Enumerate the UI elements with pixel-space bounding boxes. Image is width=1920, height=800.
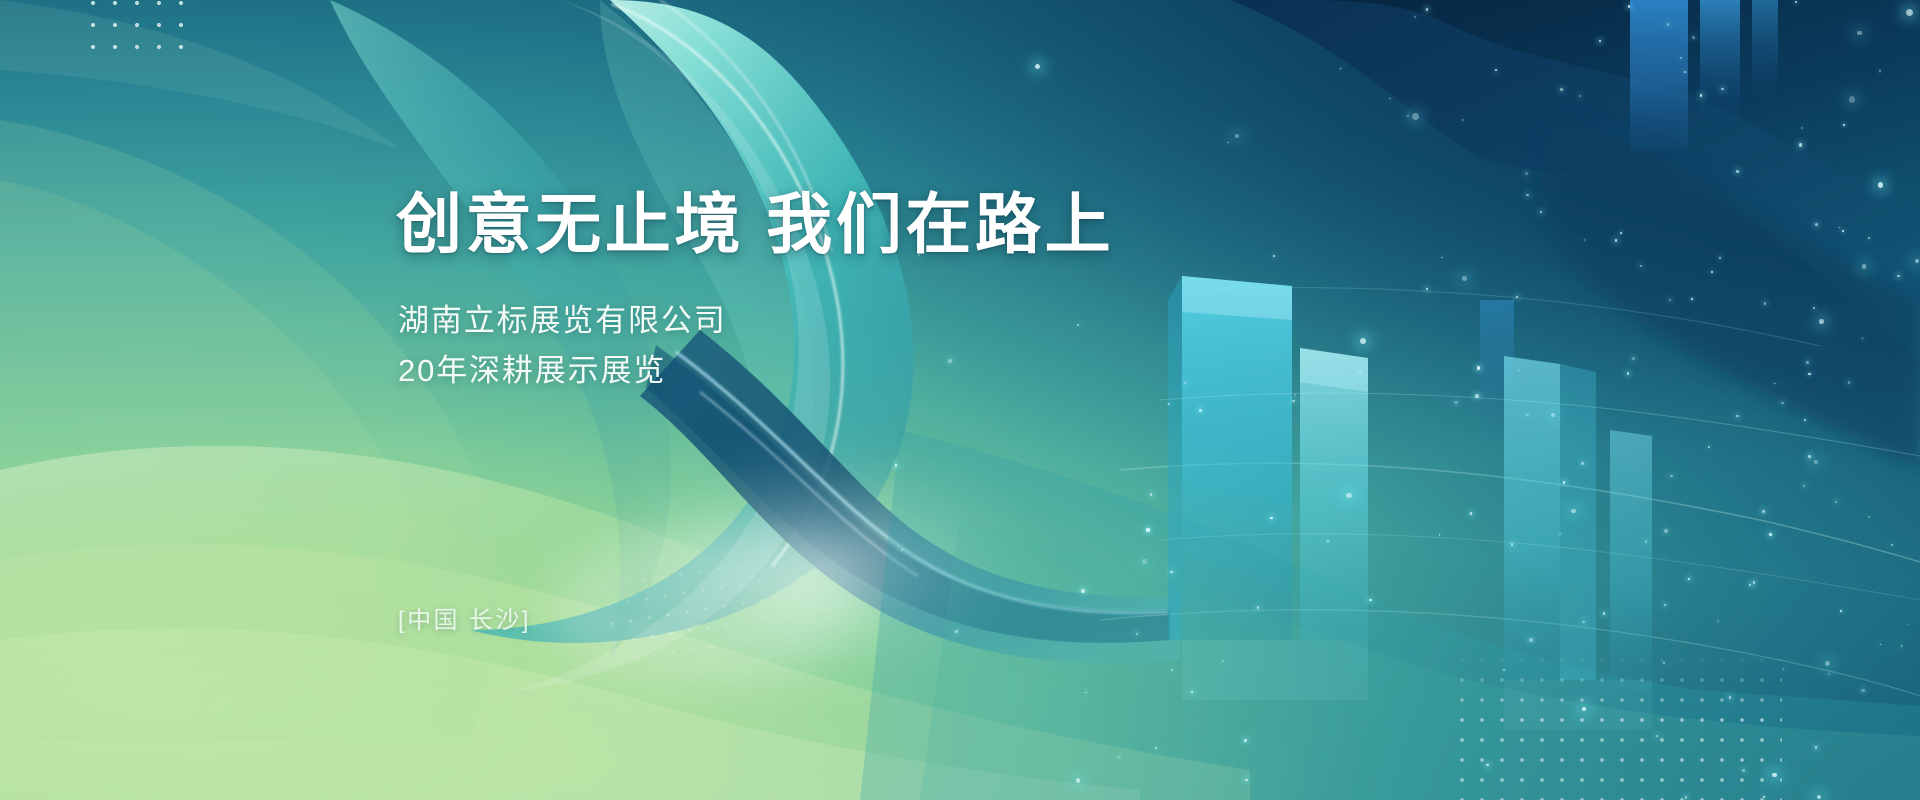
subtitle-block: 湖南立标展览有限公司 20年深耕展示展览 [398,296,1396,396]
subtitle-line-2: 20年深耕展示展览 [398,346,1396,396]
dot-grid-bottom-right [1452,650,1782,800]
dot-grid-top-left [82,0,200,54]
hero-banner: 创意无止境 我们在路上 湖南立标展览有限公司 20年深耕展示展览 [中国 长沙] [0,0,1920,800]
subtitle-line-1: 湖南立标展览有限公司 [398,296,1396,346]
page-title: 创意无止境 我们在路上 [396,188,1396,262]
location-label: [中国 长沙] [398,600,531,635]
hero-text-block: 创意无止境 我们在路上 湖南立标展览有限公司 20年深耕展示展览 [396,188,1396,396]
